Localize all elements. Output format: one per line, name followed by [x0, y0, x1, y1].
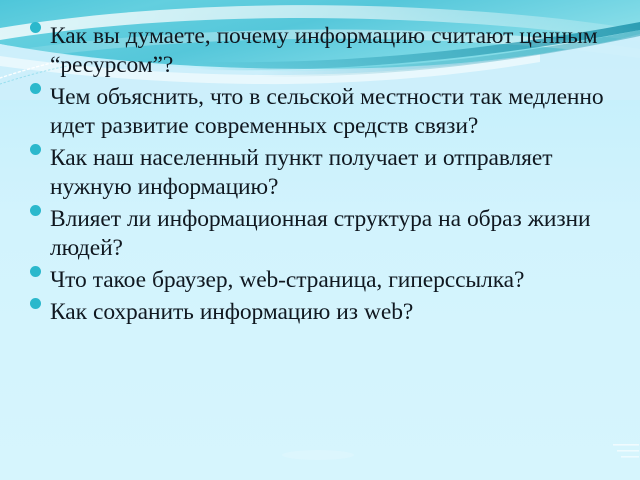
question-bullet-list: Как вы думаете, почему информацию считаю… [24, 22, 620, 330]
list-item: Как сохранить информацию из web? [24, 298, 620, 327]
bullet-dot-icon [30, 22, 41, 33]
bullet-dot-icon [30, 266, 41, 277]
list-item: Влияет ли информационная структура на об… [24, 205, 620, 263]
list-item-text: Влияет ли информационная структура на об… [50, 205, 620, 263]
list-item-text: Как сохранить информацию из web? [50, 298, 620, 327]
list-item-text: Что такое браузер, web-страница, гиперсс… [50, 266, 620, 295]
bullet-dot-icon [30, 83, 41, 94]
list-item-text: Чем объяснить, что в сельской местности … [50, 83, 620, 141]
bullet-dot-icon [30, 205, 41, 216]
list-item: Как наш населенный пункт получает и отпр… [24, 144, 620, 202]
list-item-text: Как наш населенный пункт получает и отпр… [50, 144, 620, 202]
list-item: Что такое браузер, web-страница, гиперсс… [24, 266, 620, 295]
list-item: Как вы думаете, почему информацию считаю… [24, 22, 620, 80]
presentation-slide: Как вы думаете, почему информацию считаю… [0, 0, 640, 480]
list-item-text: Как вы думаете, почему информацию считаю… [50, 22, 620, 80]
bullet-dot-icon [30, 298, 41, 309]
bullet-dot-icon [30, 144, 41, 155]
slide-content: Как вы думаете, почему информацию считаю… [0, 0, 640, 480]
list-item: Чем объяснить, что в сельской местности … [24, 83, 620, 141]
